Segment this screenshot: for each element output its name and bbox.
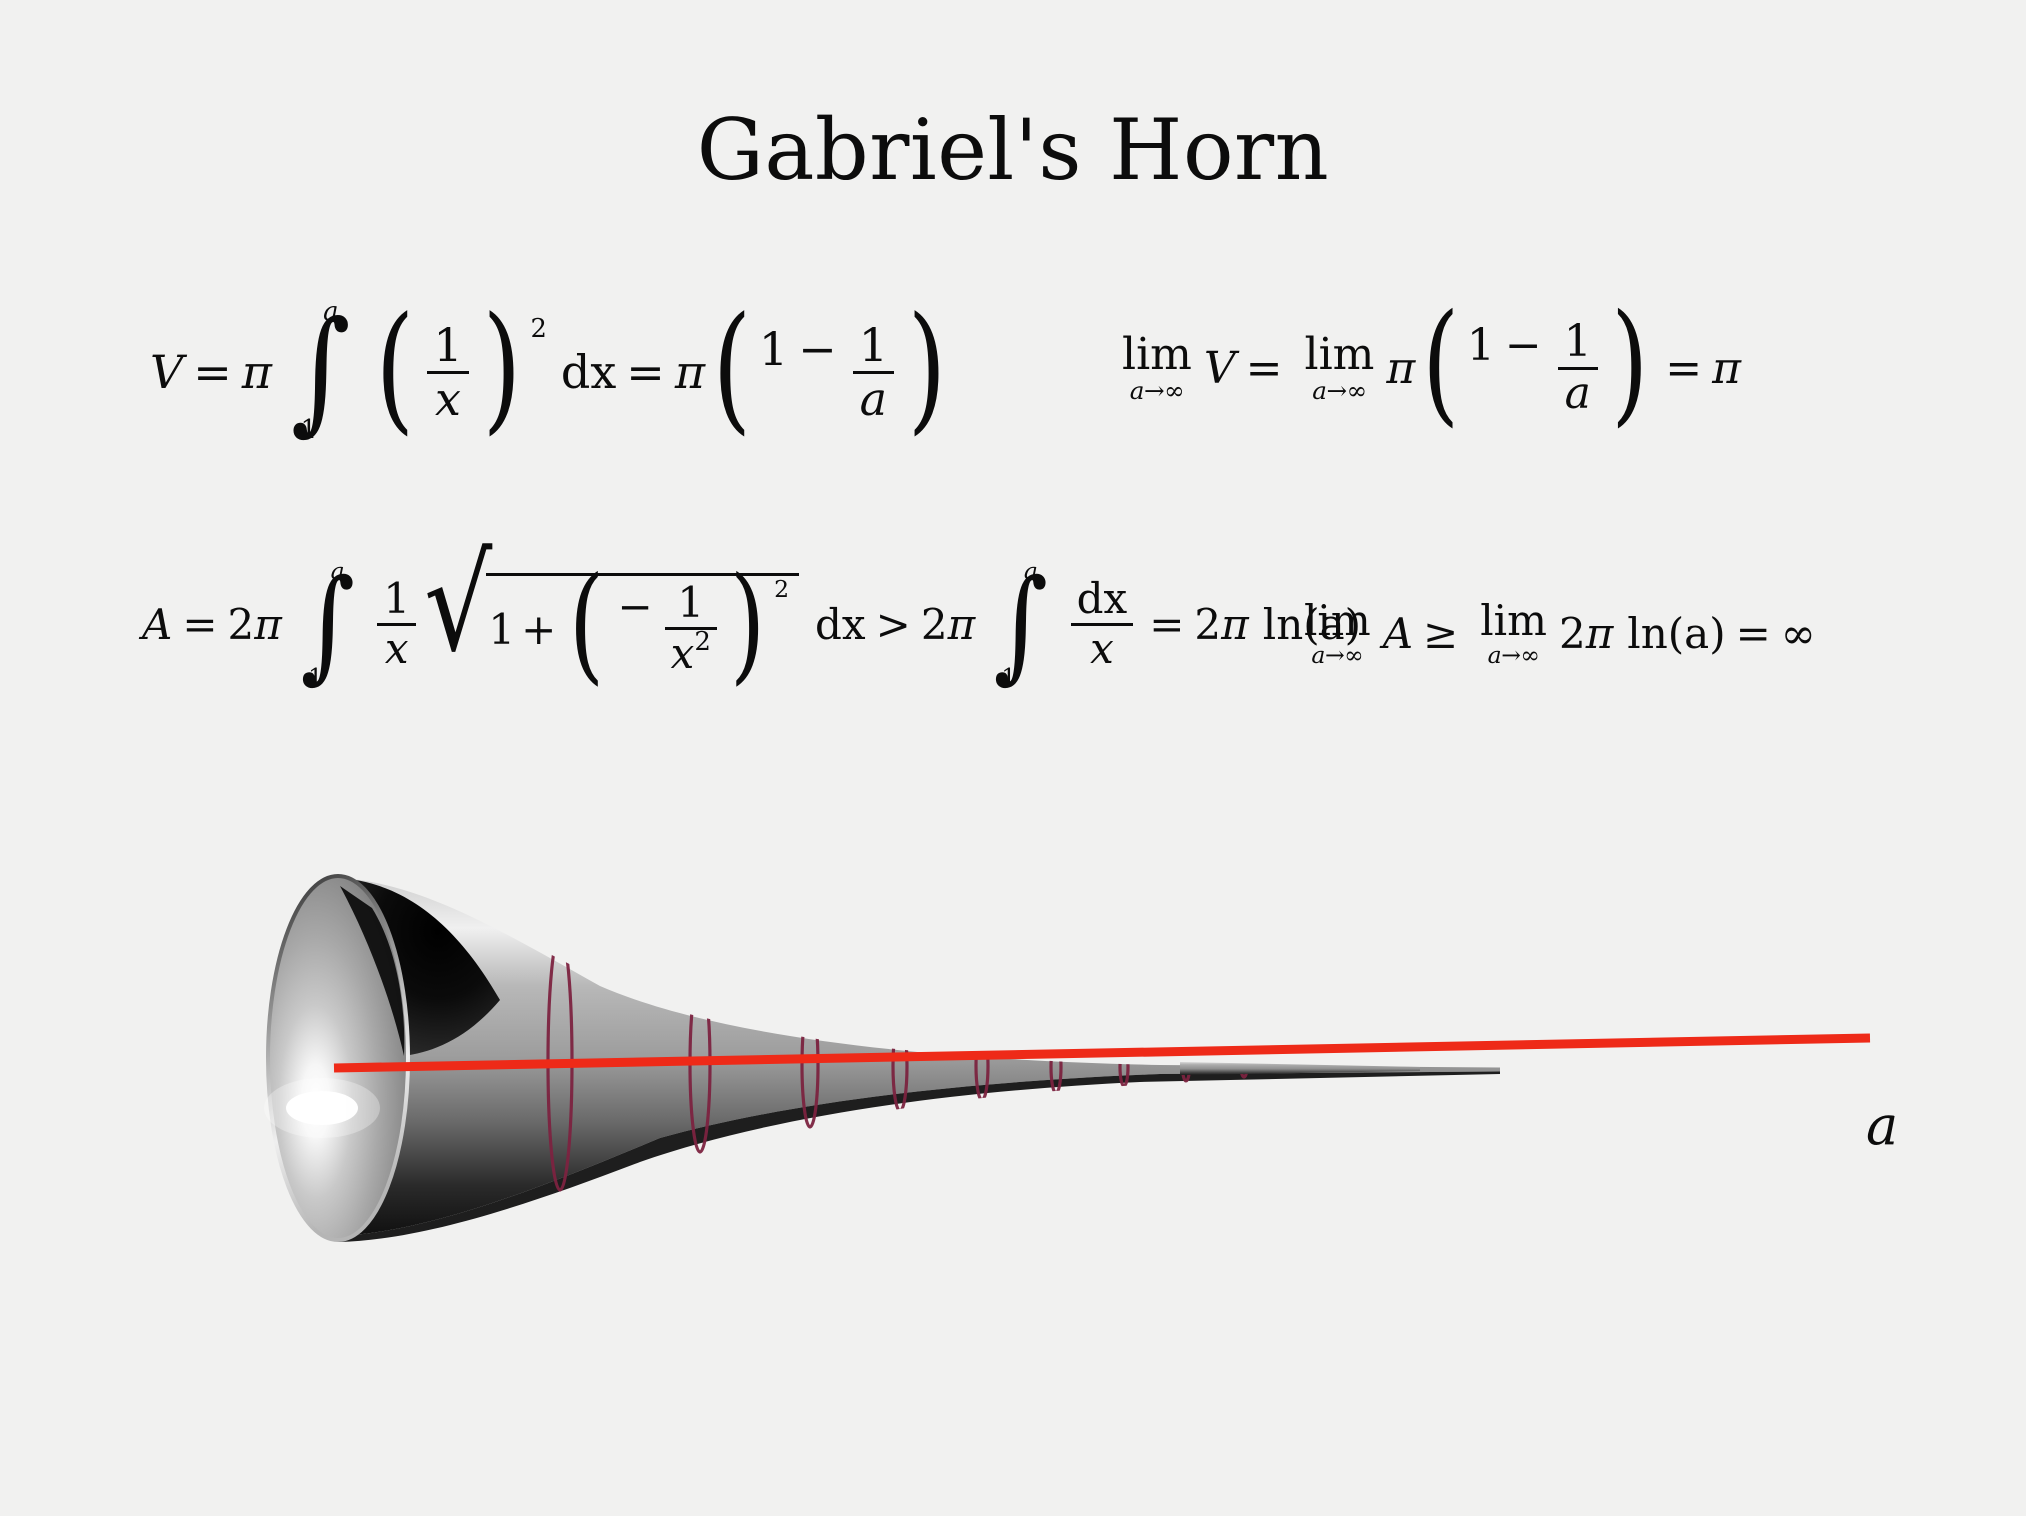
- fraction-denominator: x: [379, 626, 415, 671]
- square-root: √ 1 + ( − 1 x2 ) 2: [424, 573, 799, 676]
- two-pi-result: 2π: [1194, 600, 1248, 649]
- minus-sign: −: [1505, 320, 1542, 371]
- limit-result-group: ( 1 − 1 a ): [1415, 320, 1655, 417]
- equals-sign-2: =: [1665, 343, 1702, 394]
- integral-lower-limit: 1: [301, 418, 317, 444]
- two-pi-coefficient-2: 2π: [921, 600, 975, 649]
- fraction-one-over-x: 1 x: [427, 322, 468, 423]
- integrand-group: ( 1 x ) 2: [368, 322, 547, 423]
- integral-operator: a ∫ 1: [286, 300, 356, 444]
- fraction-numerator: 1: [377, 578, 416, 623]
- infinity-result: ∞: [1781, 609, 1816, 658]
- gabriels-horn-figure: [0, 790, 2026, 1350]
- lim-subscript: a→∞: [1311, 644, 1363, 668]
- axis-endpoint-label: a: [1866, 1094, 1898, 1157]
- paren-close: ): [482, 322, 521, 413]
- lim-label: lim: [1305, 333, 1375, 377]
- equals-sign: =: [1736, 609, 1771, 658]
- fraction-one-over-a: 1 a: [853, 322, 894, 423]
- fraction-one-over-a: 1 a: [1558, 320, 1598, 417]
- fraction-denominator: a: [854, 374, 893, 423]
- equals-sign-2: =: [1149, 600, 1184, 649]
- infinity-symbol: ∞: [1347, 376, 1367, 405]
- fraction-denominator: x2: [665, 630, 717, 676]
- infinity-symbol: ∞: [1164, 376, 1184, 405]
- fraction-numerator: 1: [853, 322, 894, 371]
- negative-sign: −: [617, 582, 652, 631]
- paren-open: (: [375, 322, 414, 413]
- equals-sign: =: [193, 345, 232, 399]
- lim-subscript: a→∞: [1312, 379, 1366, 404]
- pi-symbol: π: [242, 345, 272, 399]
- exponent-two: 2: [774, 575, 789, 603]
- lim-label: lim: [1480, 600, 1547, 642]
- derivative-group: ( − 1 x2 ) 2: [562, 582, 789, 676]
- fraction-numerator: 1: [1558, 320, 1598, 367]
- denominator-exponent: 2: [694, 627, 711, 657]
- lim-variable: a: [1311, 641, 1325, 669]
- fraction-one-over-x-squared: 1 x2: [665, 582, 717, 676]
- lim-variable: a: [1130, 376, 1144, 405]
- paren-open: (: [569, 582, 604, 665]
- fraction-denominator: x: [1084, 626, 1120, 671]
- equals-sign: =: [182, 600, 217, 649]
- limit-operator-1: lim a→∞: [1122, 333, 1192, 404]
- page-title: Gabriel's Horn: [0, 108, 2026, 192]
- two-pi-coefficient: 2π: [1559, 609, 1613, 658]
- result-one: 1: [1467, 320, 1495, 371]
- lim-subscript: a→∞: [1130, 379, 1184, 404]
- area-symbol: A: [1383, 609, 1413, 658]
- lim-variable: a: [1312, 376, 1326, 405]
- paren-close-2: ): [908, 322, 947, 413]
- integral-operator-simplified: a ∫ 1: [989, 560, 1052, 689]
- lim-variable: a: [1488, 641, 1502, 669]
- limit-operator-2: lim a→∞: [1480, 600, 1547, 668]
- radicand-one: 1: [488, 605, 515, 654]
- infinity-symbol: ∞: [1344, 641, 1363, 669]
- result-group: ( 1 − 1 a ): [705, 322, 954, 423]
- formula-volume: V = π a ∫ 1 ( 1 x ) 2 dx = π ( 1 − 1 a ): [150, 300, 954, 444]
- volume-symbol: V: [150, 345, 183, 399]
- two-pi-coefficient: 2π: [228, 600, 282, 649]
- formula-area: A = 2π a ∫ 1 1 x √ 1 + ( − 1 x2 ) 2: [142, 560, 1361, 689]
- fraction-one-over-x: 1 x: [377, 578, 416, 671]
- natural-log-of-a: ln(a): [1627, 609, 1725, 658]
- plus-sign: +: [521, 605, 556, 654]
- integral-operator-area: a ∫ 1: [296, 560, 359, 689]
- fraction-numerator: 1: [671, 582, 710, 627]
- arrow-icon: →: [1326, 376, 1346, 405]
- fraction-numerator: 1: [427, 322, 468, 371]
- fraction-denominator: x: [429, 374, 467, 423]
- lim-subscript: a→∞: [1488, 644, 1540, 668]
- pi-symbol: π: [1386, 343, 1415, 394]
- specular-highlight-glow: [264, 1078, 380, 1138]
- paren-open: (: [1423, 320, 1460, 407]
- denominator-x: x: [671, 629, 695, 678]
- formula-volume-limit: lim a→∞ V = lim a→∞ π ( 1 − 1 a ) = π: [1110, 320, 1741, 417]
- fraction-numerator: dx: [1071, 578, 1134, 623]
- lim-label: lim: [1122, 333, 1192, 377]
- greater-or-equal-sign: ≥: [1423, 609, 1458, 658]
- result-one: 1: [759, 322, 788, 376]
- integral-glyph: ∫: [291, 310, 351, 433]
- equals-sign: =: [1246, 343, 1283, 394]
- minus-sign: −: [798, 322, 837, 376]
- integral-lower-limit: 1: [1001, 666, 1016, 690]
- radical-icon: √: [424, 553, 492, 678]
- fraction-denominator: a: [1559, 370, 1597, 417]
- equals-sign-2: =: [626, 345, 665, 399]
- limit-result-pi: π: [1712, 343, 1741, 394]
- arrow-icon: →: [1501, 641, 1520, 669]
- limit-operator-1: lim a→∞: [1304, 600, 1371, 668]
- lim-label: lim: [1304, 600, 1371, 642]
- horn-surface-svg: [0, 790, 2026, 1350]
- integral-lower-limit: 1: [308, 666, 323, 690]
- paren-close: ): [730, 582, 765, 665]
- arrow-icon: →: [1144, 376, 1164, 405]
- exponent-two: 2: [530, 314, 546, 344]
- greater-than-sign: >: [876, 600, 911, 649]
- pi-symbol-2: π: [675, 345, 705, 399]
- paren-close: ): [1611, 320, 1648, 407]
- differential-dx: dx: [561, 345, 616, 399]
- formula-area-limit: lim a→∞ A ≥ lim a→∞ 2π ln(a) = ∞: [1292, 600, 1816, 668]
- radicand: 1 + ( − 1 x2 ) 2: [486, 573, 799, 676]
- volume-symbol: V: [1204, 343, 1236, 394]
- arrow-icon: →: [1325, 641, 1344, 669]
- limit-operator-2: lim a→∞: [1305, 333, 1375, 404]
- paren-open-2: (: [713, 322, 752, 413]
- infinity-symbol: ∞: [1520, 641, 1539, 669]
- area-symbol: A: [142, 600, 172, 649]
- fraction-dx-over-x: dx x: [1071, 578, 1134, 671]
- dx-text: dx: [561, 345, 616, 399]
- differential-dx: dx: [815, 600, 866, 649]
